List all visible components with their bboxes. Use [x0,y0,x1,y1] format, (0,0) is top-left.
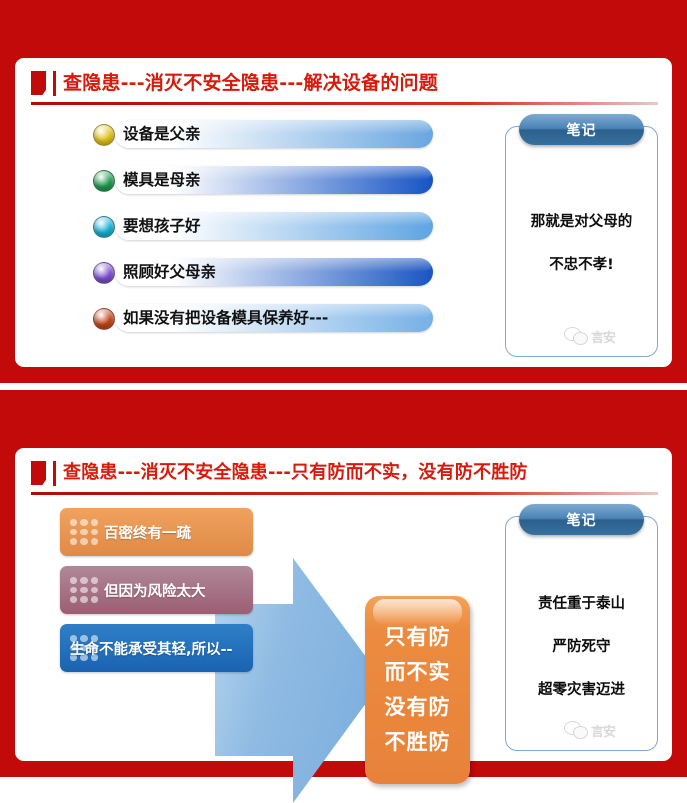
note-card-header-label: 笔记 [567,510,597,530]
flag-icon [31,71,46,95]
note-card-content: 那就是对父母的 不忠不孝! [513,210,650,296]
slide-2-box-list: 百密终有一疏 但因为风险太大 生命不能承受其轻,所以-- [60,508,253,682]
watermark-2: 言安 [564,717,646,743]
slide-1: 查隐患---消灭不安全隐患---解决设备的问题 设备是父亲 模具是母亲 [0,0,687,383]
bullet-dot-icon [93,262,115,284]
list-item[interactable]: 要想孩子好 [93,212,433,240]
slide-2: 查隐患---消灭不安全隐患---只有防而不实，没有防不胜防 [0,390,687,777]
note-card-header: 笔记 [519,504,644,535]
list-item-label: 生命不能承受其轻,所以-- [70,638,249,659]
wechat-bubbles-icon [564,721,588,739]
slide-1-card: 查隐患---消灭不安全隐患---解决设备的问题 设备是父亲 模具是母亲 [15,58,672,367]
note-line: 严防死守 [513,635,650,656]
list-item-label: 如果没有把设备模具保养好--- [123,307,328,329]
list-item[interactable]: 模具是母亲 [93,166,433,194]
note-line: 不忠不孝! [513,253,650,274]
slide-1-title: 查隐患---消灭不安全隐患---解决设备的问题 [63,74,438,93]
watermark-label: 言安 [591,327,615,346]
dot-grid-icon [70,577,98,603]
slide-2-title-rule [31,492,658,495]
list-item-label: 要想孩子好 [123,215,201,237]
slide-2-card: 查隐患---消灭不安全隐患---只有防而不实，没有防不胜防 [15,448,672,761]
slide-2-title: 查隐患---消灭不安全隐患---只有防而不实，没有防不胜防 [63,464,528,482]
result-line: 不胜防 [385,732,451,753]
bullet-dot-icon [93,170,115,192]
note-line: 那就是对父母的 [513,210,650,231]
note-card-header: 笔记 [519,114,644,145]
note-card-header-label: 笔记 [567,120,597,140]
note-card-2: 笔记 责任重于泰山 严防死守 超零灾害迈进 言安 [505,504,658,751]
bullet-dot-icon [93,308,115,330]
list-item[interactable]: 照顾好父母亲 [93,258,433,286]
slide-1-title-row: 查隐患---消灭不安全隐患---解决设备的问题 [31,66,658,100]
note-card-content: 责任重于泰山 严防死守 超零灾害迈进 [513,592,650,721]
slide-1-bullet-list: 设备是父亲 模具是母亲 要想孩子好 照顾好父母亲 [93,120,433,350]
note-line: 超零灾害迈进 [513,678,650,699]
list-item[interactable]: 如果没有把设备模具保养好--- [93,304,433,332]
note-line: 责任重于泰山 [513,592,650,613]
list-item-label: 照顾好父母亲 [123,261,216,283]
bullet-dot-icon [93,124,115,146]
result-line: 没有防 [385,697,451,718]
dot-grid-icon [70,519,98,545]
bullet-dot-icon [93,216,115,238]
slide-1-title-rule [31,102,658,105]
result-line: 而不实 [385,662,451,683]
slide-2-title-row: 查隐患---消灭不安全隐患---只有防而不实，没有防不胜防 [31,456,658,490]
watermark-label: 言安 [591,721,615,740]
list-item[interactable]: 但因为风险太大 [60,566,253,614]
list-item[interactable]: 百密终有一疏 [60,508,253,556]
flag-icon [31,461,46,485]
note-card-1: 笔记 那就是对父母的 不忠不孝! 言安 [505,114,658,357]
watermark-1: 言安 [564,323,646,349]
title-accent-bar [53,461,56,486]
result-box: 只有防 而不实 没有防 不胜防 [365,596,470,784]
wechat-bubbles-icon [564,327,588,345]
list-item[interactable]: 设备是父亲 [93,120,433,148]
title-accent-bar [53,71,56,96]
list-item-label: 设备是父亲 [123,123,201,145]
result-line: 只有防 [385,627,451,648]
list-item-label: 模具是母亲 [123,169,201,191]
list-item-label: 但因为风险太大 [104,580,249,601]
list-item[interactable]: 生命不能承受其轻,所以-- [60,624,253,672]
list-item-label: 百密终有一疏 [104,522,249,543]
slide-deck: 查隐患---消灭不安全隐患---解决设备的问题 设备是父亲 模具是母亲 [0,0,687,777]
